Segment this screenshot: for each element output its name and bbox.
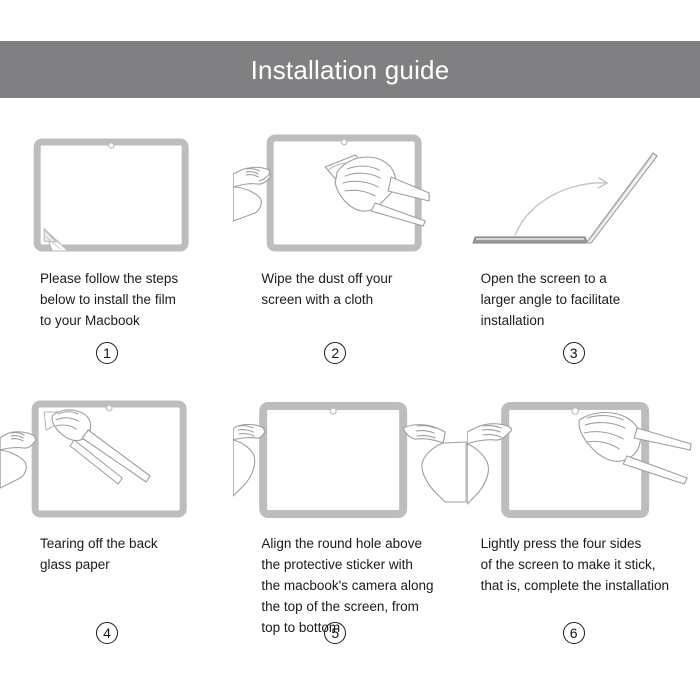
step-4-caption: Tearing off the back glass paper xyxy=(0,533,166,575)
step-card-3: Open the screen to a larger angle to fac… xyxy=(467,125,700,390)
step-2-caption: Wipe the dust off your screen with a clo… xyxy=(233,268,400,310)
step-1-caption: Please follow the steps below to install… xyxy=(0,268,186,331)
step-5-illustration xyxy=(233,390,466,525)
step-4-illustration xyxy=(0,390,233,525)
step-2-illustration xyxy=(233,125,466,260)
step-number-badge-3: 3 xyxy=(563,342,585,364)
step-card-5: Align the round hole above the protectiv… xyxy=(233,390,466,670)
step-1-illustration xyxy=(0,125,233,260)
step-card-1: Please follow the steps below to install… xyxy=(0,125,233,390)
step-number-badge-2: 2 xyxy=(324,342,346,364)
step-card-6: Lightly press the four sides of the scre… xyxy=(467,390,700,670)
step-card-4: Tearing off the back glass paper 4 xyxy=(0,390,233,670)
step-6-caption: Lightly press the four sides of the scre… xyxy=(467,533,677,596)
installation-guide-page: Installation guide Please follo xyxy=(0,0,700,700)
step-number-badge-5: 5 xyxy=(324,622,346,644)
step-6-illustration xyxy=(467,390,700,525)
step-number-badge-4: 4 xyxy=(96,622,118,644)
steps-grid: Please follow the steps below to install… xyxy=(0,125,700,670)
page-title: Installation guide xyxy=(251,57,450,83)
step-card-2: Wipe the dust off your screen with a clo… xyxy=(233,125,466,390)
step-3-illustration xyxy=(467,125,700,260)
step-number-badge-6: 6 xyxy=(563,622,585,644)
step-3-caption: Open the screen to a larger angle to fac… xyxy=(467,268,629,331)
header-bar: Installation guide xyxy=(0,41,700,98)
step-number-badge-1: 1 xyxy=(96,342,118,364)
